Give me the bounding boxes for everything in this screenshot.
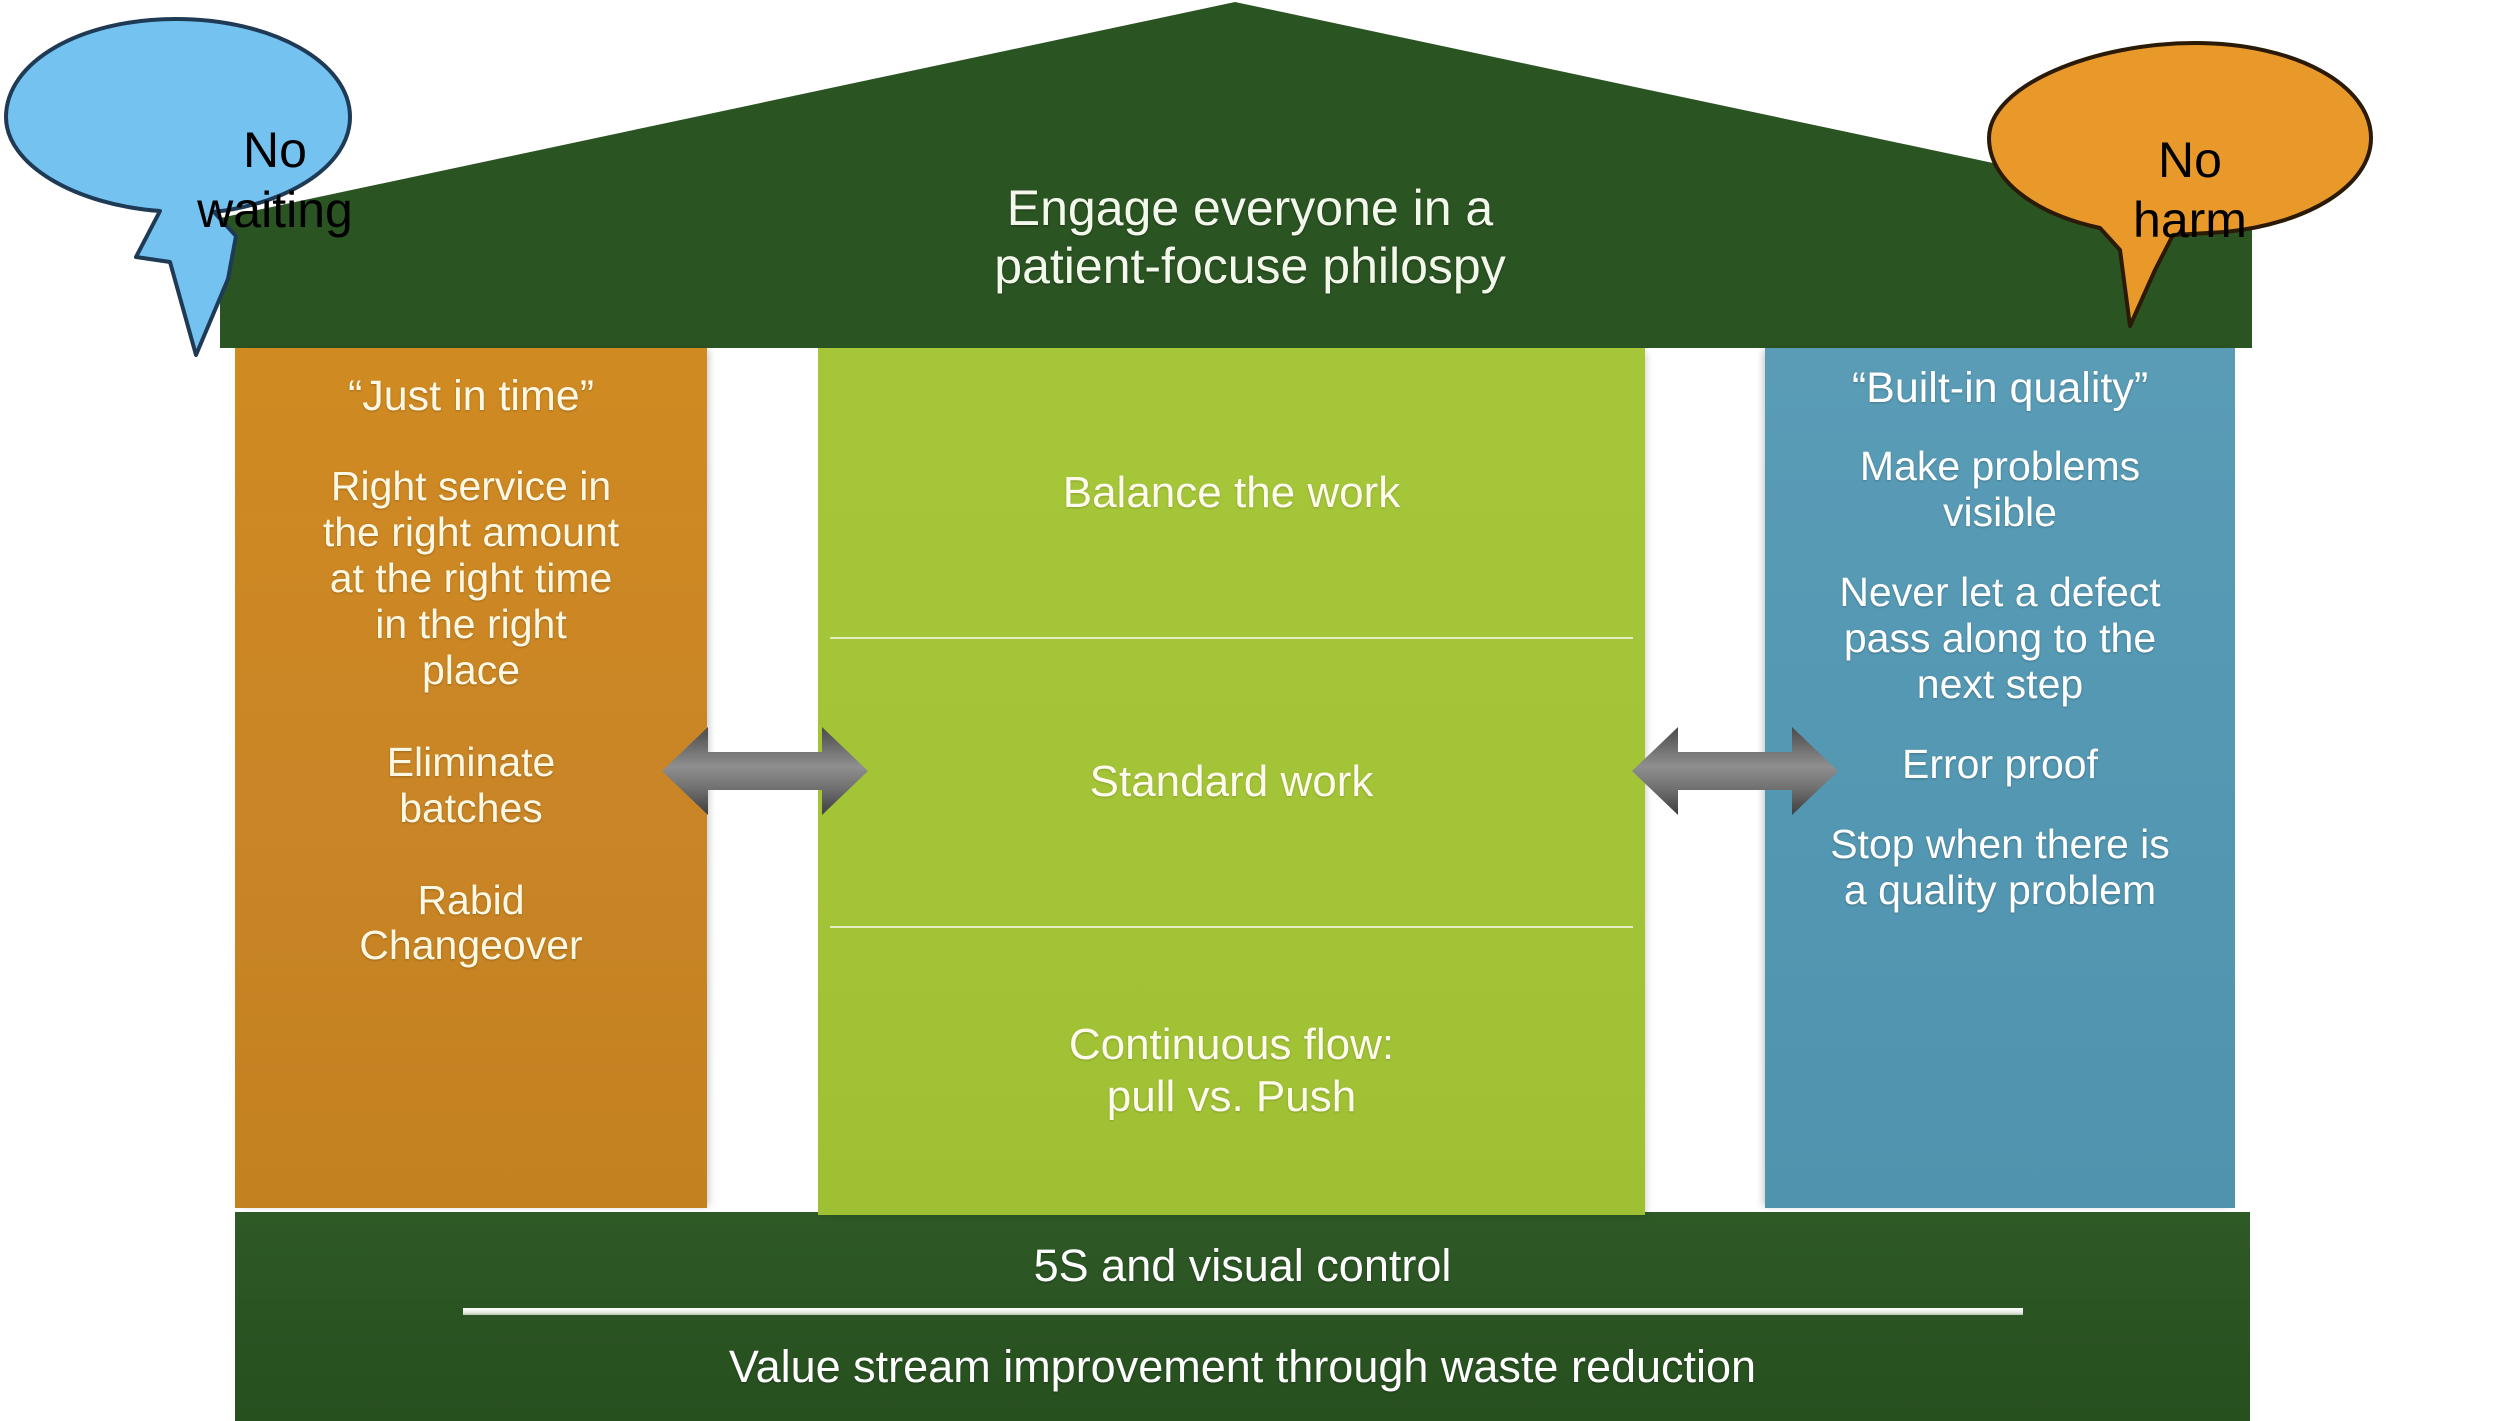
center-cell-balance-the-work: Balance the work	[818, 348, 1645, 637]
foundation-band: 5S and visual control Value stream impro…	[235, 1212, 2250, 1421]
biq-item-4: Stop when there is a quality problem	[1781, 822, 2219, 914]
biq-item-2: Never let a defect pass along to the nex…	[1781, 570, 2219, 708]
foundation-line-value-stream: Value stream improvement through waste r…	[729, 1341, 1756, 1393]
bidirectional-arrow-icon-left	[662, 712, 868, 830]
biq-item-1: Make problems visible	[1781, 444, 2219, 536]
biq-item-3: Error proof	[1781, 742, 2219, 788]
center-cell-continuous-flow: Continuous flow: pull vs. Push	[818, 926, 1645, 1215]
jit-item-1: Right service in the right amount at the…	[257, 464, 685, 694]
center-pillar: Balance the work Standard work Continuou…	[818, 348, 1645, 1215]
foundation-line-5s: 5S and visual control	[1034, 1240, 1452, 1292]
roof-statement: Engage everyone in a patient-focuse phil…	[850, 180, 1650, 295]
jit-item-2: Eliminate batches	[257, 740, 685, 832]
just-in-time-heading: “Just in time”	[257, 372, 685, 420]
bidirectional-arrow-icon-right	[1632, 712, 1838, 830]
jit-item-3: Rabid Changeover	[257, 878, 685, 970]
lean-house-diagram: Engage everyone in a patient-focuse phil…	[0, 0, 2500, 1421]
built-in-quality-heading: “Built-in quality”	[1781, 364, 2219, 412]
foundation-divider	[463, 1308, 2023, 1315]
just-in-time-pillar: “Just in time” Right service in the righ…	[235, 348, 707, 1208]
center-cell-standard-work: Standard work	[818, 637, 1645, 926]
speech-bubble-no-waiting	[0, 14, 560, 374]
speech-bubble-no-harm	[1915, 38, 2475, 368]
